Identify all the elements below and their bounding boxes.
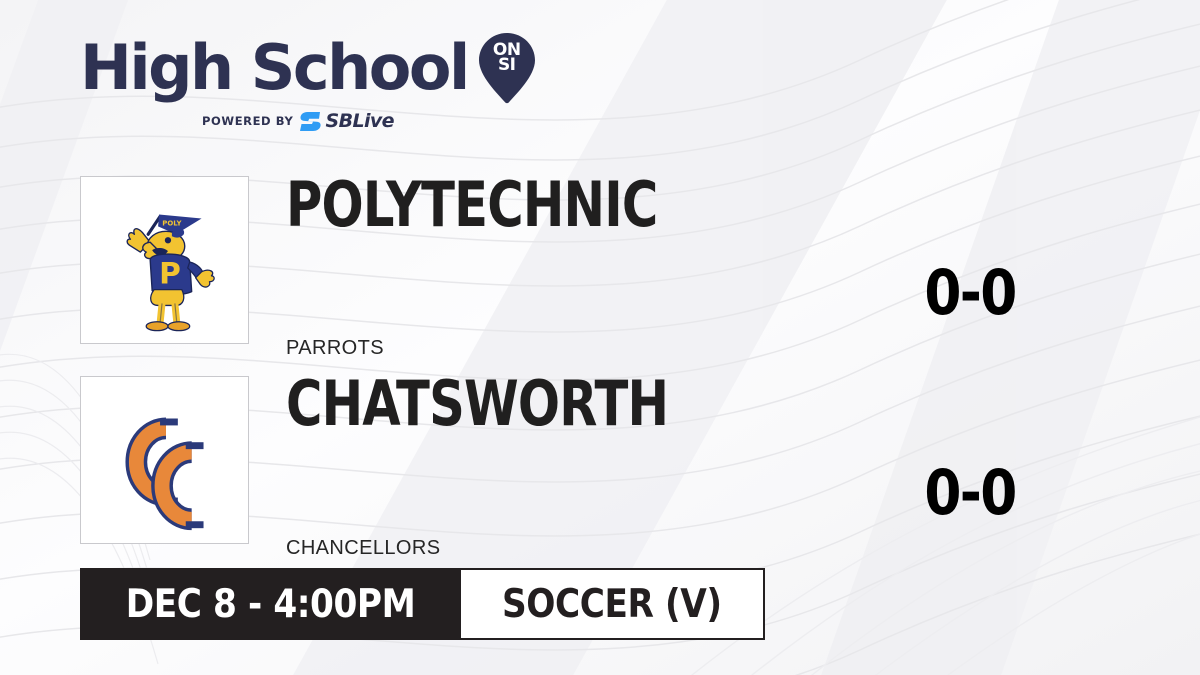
team-mascot-chatsworth: CHANCELLORS xyxy=(286,537,440,560)
team-name-chatsworth: CHATSWORTH xyxy=(286,373,668,435)
game-info-banner: DEC 8 - 4:00PM SOCCER (V) xyxy=(80,568,765,640)
powered-by-label: POWERED BY xyxy=(202,114,293,128)
team-record-chatsworth: 0-0 xyxy=(901,462,1039,524)
powered-by-row: POWERED BY SBLive xyxy=(202,110,520,132)
high-school-wordmark: High School xyxy=(80,39,468,98)
game-datetime: DEC 8 - 4:00PM xyxy=(80,568,461,640)
sblive-logo: SBLive xyxy=(300,110,393,132)
sblive-s-icon xyxy=(300,112,322,131)
parrot-mascot-logo-icon: POLY P xyxy=(81,177,248,343)
pin-label-bottom: SI xyxy=(478,58,536,73)
svg-text:P: P xyxy=(159,256,181,291)
game-sport: SOCCER (V) xyxy=(461,568,765,640)
cc-monogram-logo-icon xyxy=(81,377,248,543)
pin-label: ON SI xyxy=(478,43,536,73)
team-name-polytechnic: POLYTECHNIC xyxy=(286,174,658,236)
team-logo-polytechnic: POLY P xyxy=(80,176,249,344)
team-mascot-polytechnic: PARROTS xyxy=(286,337,384,360)
matchup-graphic: High School ON SI POWERED BY SBLive xyxy=(0,0,1200,675)
team-record-polytechnic: 0-0 xyxy=(901,262,1039,324)
svg-text:POLY: POLY xyxy=(162,219,182,227)
on-si-pin-icon: ON SI xyxy=(478,32,536,104)
team-logo-chatsworth xyxy=(80,376,249,544)
sblive-wordmark: SBLive xyxy=(325,110,393,132)
game-datetime-label: DEC 8 - 4:00PM xyxy=(126,582,416,627)
game-sport-label: SOCCER (V) xyxy=(502,582,722,627)
brand-header: High School ON SI POWERED BY SBLive xyxy=(80,32,520,132)
brand-logo-row: High School ON SI xyxy=(80,32,520,104)
